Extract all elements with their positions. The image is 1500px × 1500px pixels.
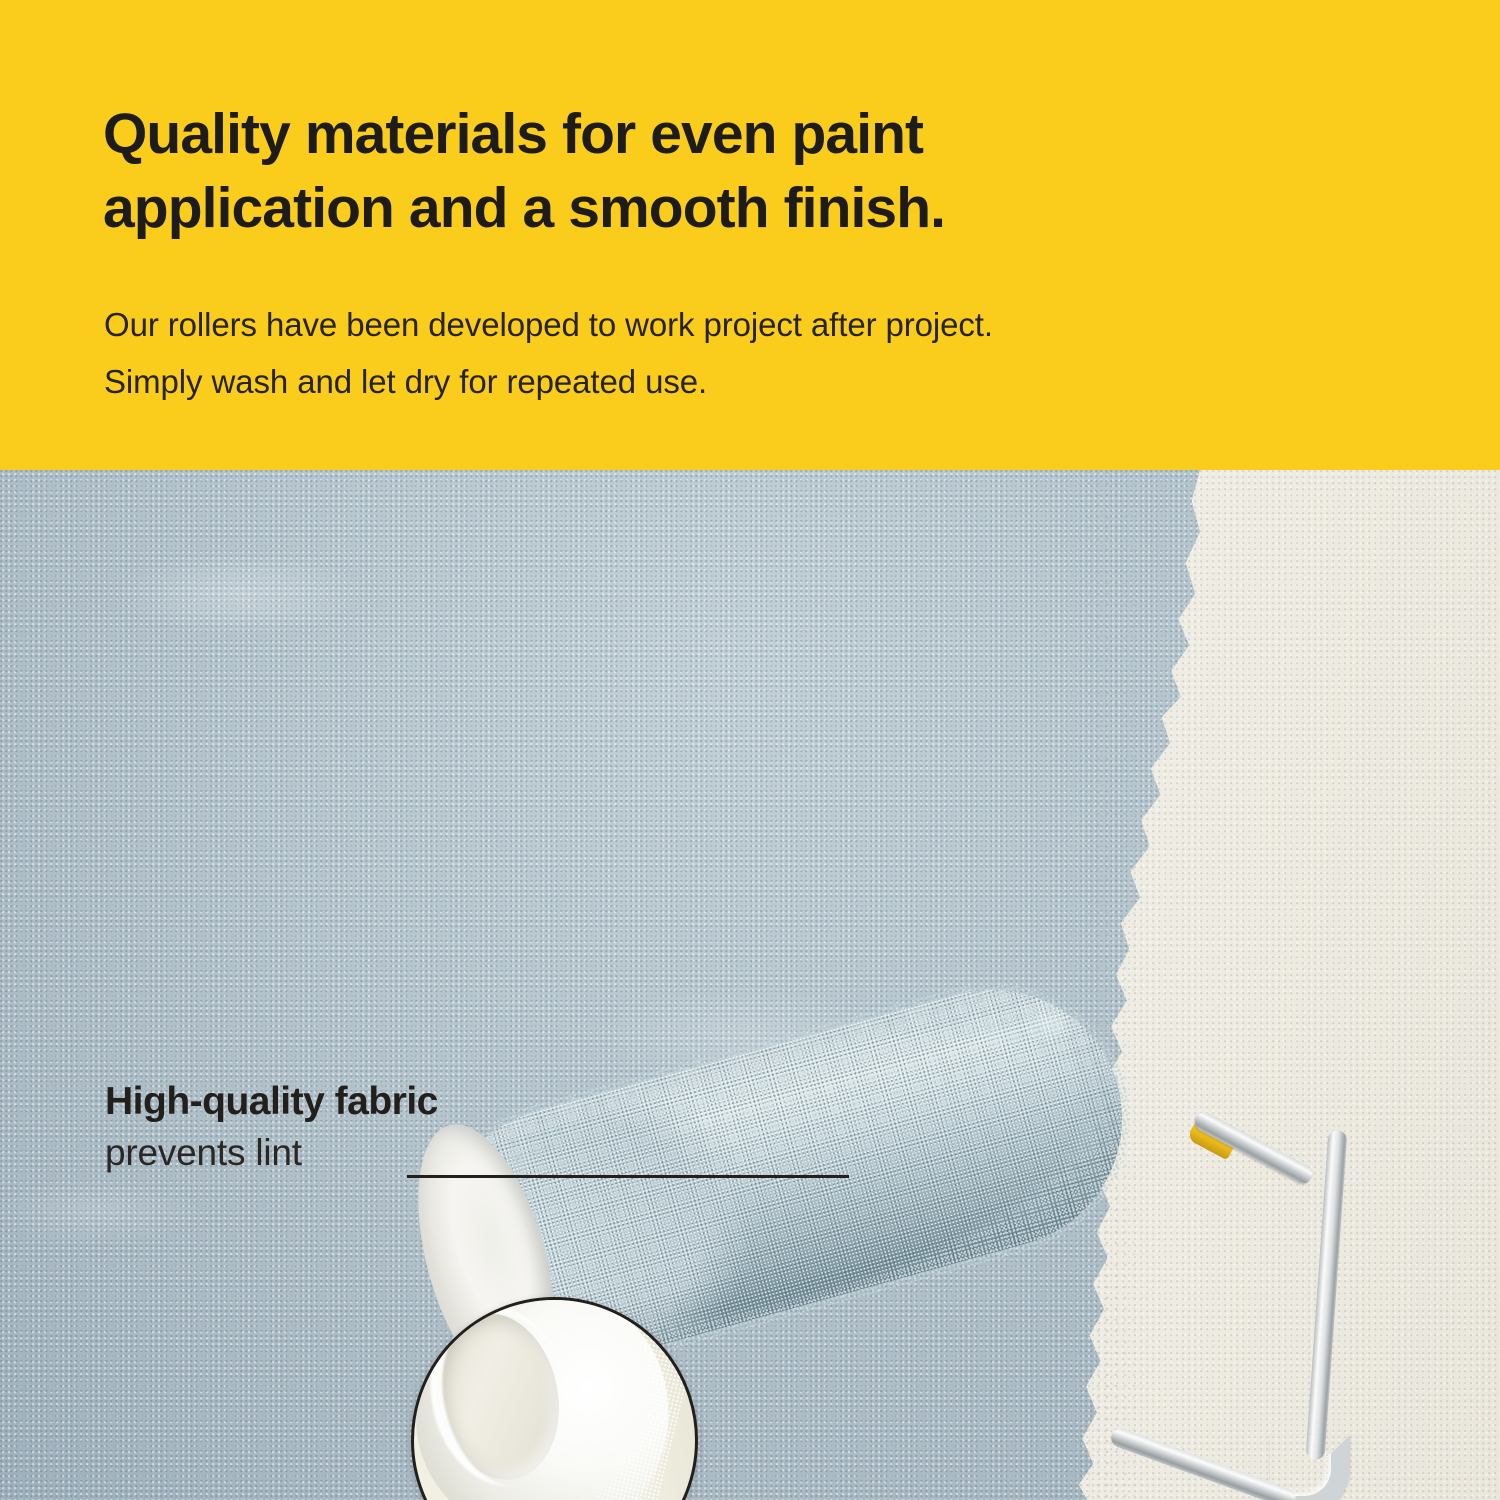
callout-subtitle: prevents lint [105, 1131, 438, 1175]
leader-line-fabric [407, 1175, 849, 1178]
page-subcopy: Our rollers have been developed to work … [104, 297, 1404, 411]
callout-high-quality-fabric: High-quality fabric prevents lint [105, 1081, 438, 1176]
page-headline: Quality materials for even paint applica… [103, 97, 1283, 245]
infographic-page: Quality materials for even paint applica… [0, 0, 1500, 1500]
callout-title: High-quality fabric [105, 1081, 438, 1123]
product-photo: High-quality fabric prevents lint Polypr… [0, 470, 1500, 1500]
core-tube-body [411, 1297, 695, 1500]
header-band: Quality materials for even paint applica… [0, 0, 1500, 470]
detail-circle [411, 1297, 698, 1500]
